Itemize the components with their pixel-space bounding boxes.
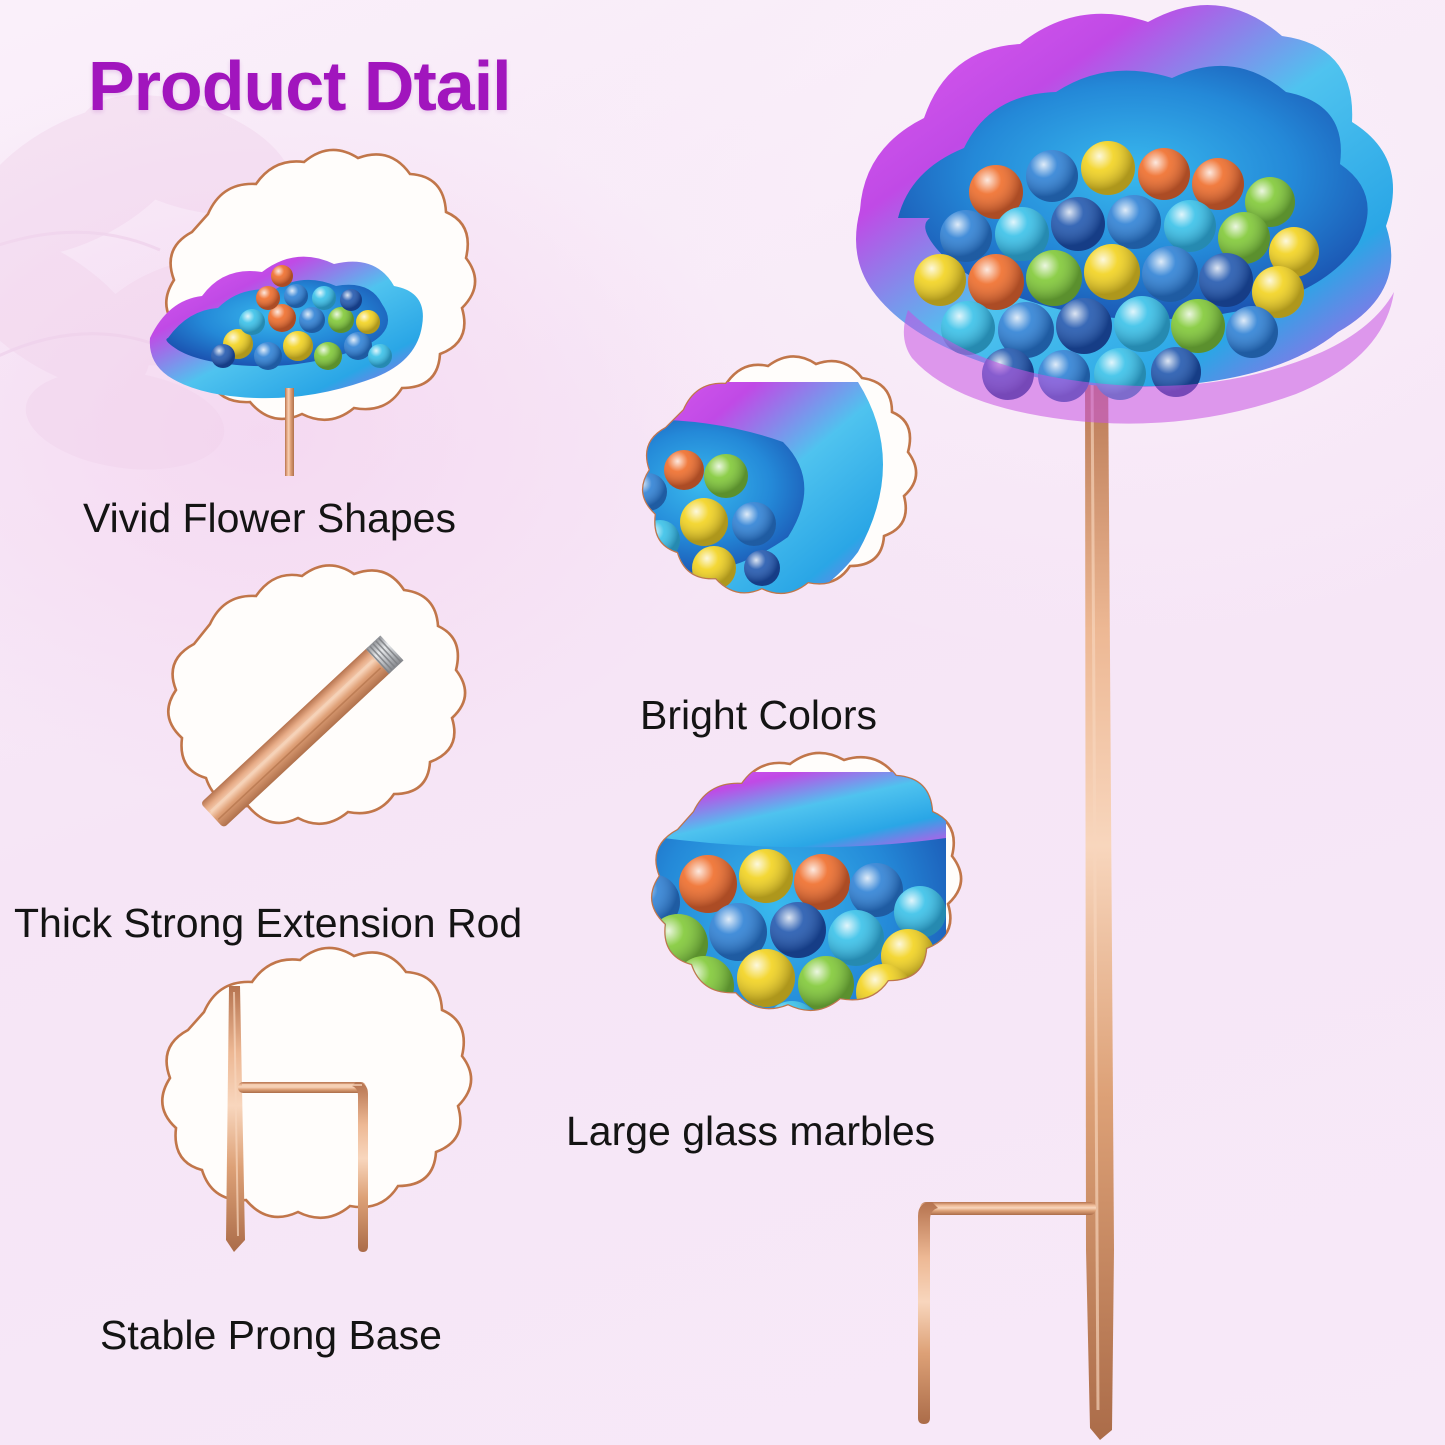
hero-prong-base [918, 1202, 1096, 1424]
feature-label-vivid-flower-shapes: Vivid Flower Shapes [83, 495, 456, 542]
hero-product-image [740, 10, 1440, 1440]
page-title: Product Dtail [88, 46, 511, 126]
hero-flower-bowl [856, 5, 1394, 424]
feature-card-stable-prong-base [118, 968, 456, 1298]
stake-rod [285, 388, 294, 476]
feature-card-thick-strong-extension-rod [126, 582, 456, 902]
feature-card-vivid-flower-shapes [122, 170, 460, 500]
feature-label-stable-prong-base: Stable Prong Base [100, 1312, 442, 1359]
card-blob-outline [168, 565, 465, 823]
hero-stake-rod [1085, 360, 1114, 1440]
feature-label-thick-strong-extension-rod: Thick Strong Extension Rod [14, 900, 522, 947]
